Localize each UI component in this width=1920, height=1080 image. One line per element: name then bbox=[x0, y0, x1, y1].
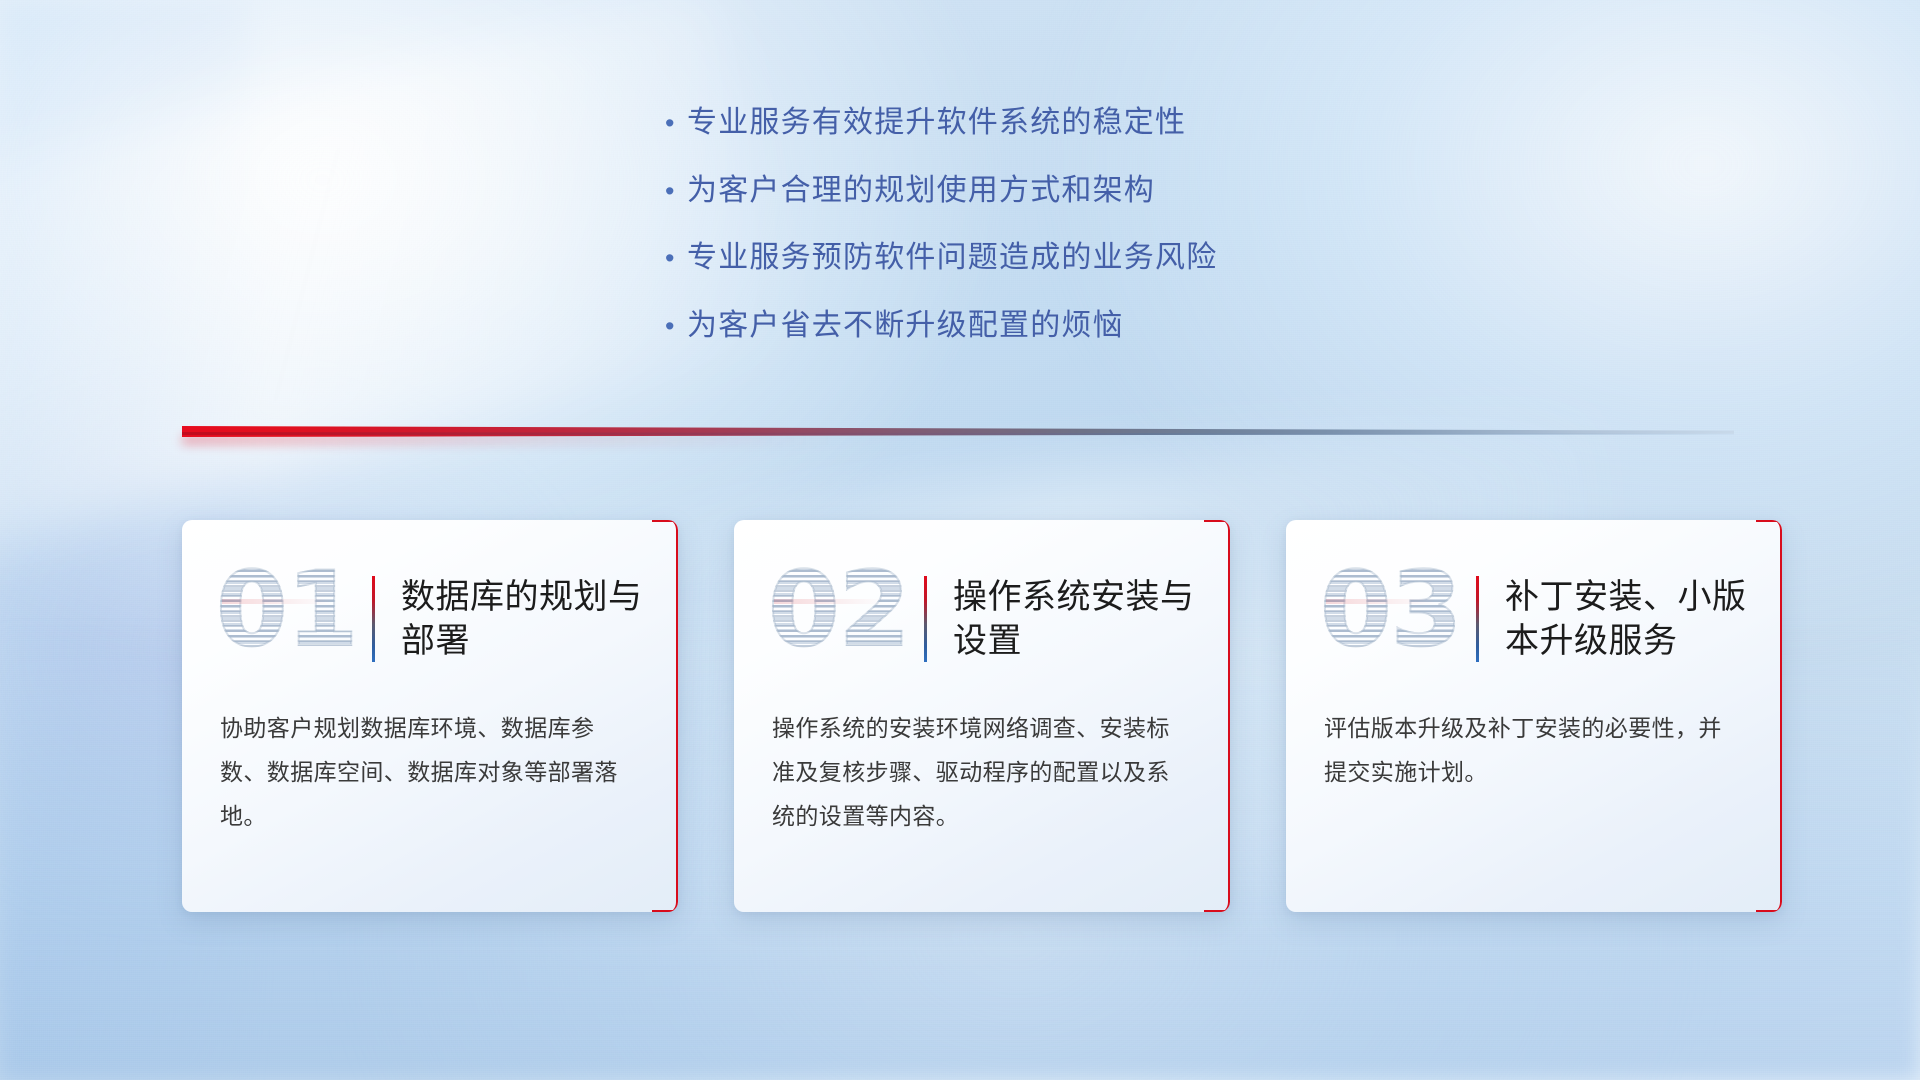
card-number-outline-layer: 02 bbox=[768, 559, 909, 662]
service-card-group: 01 01 数据库的规划与部署 协助客户规划数据库环境、数据库参数、数据库空间、… bbox=[182, 520, 1782, 912]
card-number-badge: 01 01 bbox=[216, 565, 368, 673]
list-item: • 为客户合理的规划使用方式和架构 bbox=[665, 173, 1465, 210]
list-item: • 专业服务预防软件问题造成的业务风险 bbox=[665, 240, 1465, 277]
list-item: • 专业服务有效提升软件系统的稳定性 bbox=[665, 105, 1465, 142]
card-title: 操作系统安装与设置 bbox=[953, 575, 1200, 663]
bullet-text: 专业服务有效提升软件系统的稳定性 bbox=[687, 105, 1186, 142]
card-title-divider-rule bbox=[372, 576, 375, 662]
service-card-03[interactable]: 03 03 补丁安装、小版本升级服务 评估版本升级及补丁安装的必要性，并提交实施… bbox=[1286, 520, 1782, 912]
bullet-text: 为客户合理的规划使用方式和架构 bbox=[687, 173, 1155, 210]
service-card-02[interactable]: 02 02 操作系统安装与设置 操作系统的安装环境网络调查、安装标准及复核步骤、… bbox=[734, 520, 1230, 912]
card-number-badge: 03 03 bbox=[1320, 565, 1472, 673]
bullet-dot-icon: • bbox=[665, 178, 687, 205]
divider-gradient-bar bbox=[182, 426, 1734, 437]
card-number-red-tint bbox=[1326, 599, 1436, 604]
card-title: 数据库的规划与部署 bbox=[401, 575, 648, 663]
card-header: 01 01 数据库的规划与部署 bbox=[182, 520, 678, 680]
card-number-badge: 02 02 bbox=[768, 565, 920, 673]
bullet-dot-icon: • bbox=[665, 110, 687, 137]
bullet-dot-icon: • bbox=[665, 245, 687, 272]
section-divider bbox=[182, 425, 1734, 443]
card-body-text: 评估版本升级及补丁安装的必要性，并提交实施计划。 bbox=[1286, 680, 1782, 794]
bullet-dot-icon: • bbox=[665, 313, 687, 340]
card-number-red-tint bbox=[774, 599, 884, 604]
card-body-text: 操作系统的安装环境网络调查、安装标准及复核步骤、驱动程序的配置以及系统的设置等内… bbox=[734, 680, 1230, 838]
card-title: 补丁安装、小版本升级服务 bbox=[1505, 575, 1752, 663]
card-body-text: 协助客户规划数据库环境、数据库参数、数据库空间、数据库对象等部署落地。 bbox=[182, 680, 678, 838]
list-item: • 为客户省去不断升级配置的烦恼 bbox=[665, 308, 1465, 345]
benefits-bullet-list: • 专业服务有效提升软件系统的稳定性 • 为客户合理的规划使用方式和架构 • 专… bbox=[665, 105, 1465, 375]
card-title-divider-rule bbox=[924, 576, 927, 662]
service-card-01[interactable]: 01 01 数据库的规划与部署 协助客户规划数据库环境、数据库参数、数据库空间、… bbox=[182, 520, 678, 912]
card-number-outline-layer: 03 bbox=[1320, 559, 1461, 662]
bullet-text: 专业服务预防软件问题造成的业务风险 bbox=[687, 240, 1217, 277]
card-header: 02 02 操作系统安装与设置 bbox=[734, 520, 1230, 680]
card-number-red-tint bbox=[222, 599, 332, 604]
bullet-text: 为客户省去不断升级配置的烦恼 bbox=[687, 308, 1124, 345]
card-title-divider-rule bbox=[1476, 576, 1479, 662]
card-number-outline-layer: 01 bbox=[216, 559, 357, 662]
card-header: 03 03 补丁安装、小版本升级服务 bbox=[1286, 520, 1782, 680]
